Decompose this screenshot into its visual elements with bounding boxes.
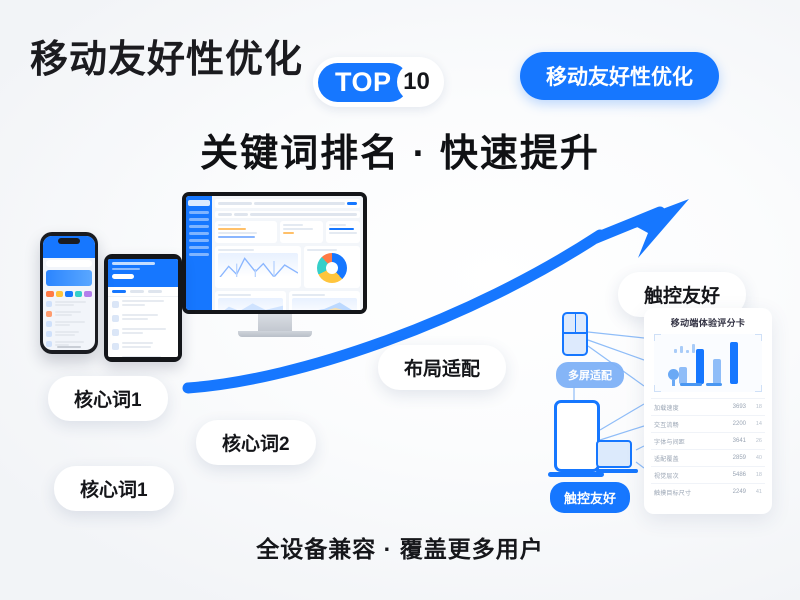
- table-row: 触摸目标尺寸 2249 41: [651, 483, 765, 500]
- top-rank-badge: TOP 10: [313, 57, 444, 107]
- monitor-bezel: [182, 192, 367, 314]
- row-delta: 14: [746, 421, 762, 427]
- filter-chip: [218, 213, 232, 216]
- mobile-score-card: 移动端体验评分卡 加载速度 3693: [644, 308, 772, 514]
- row-name: 适配覆盖: [654, 454, 722, 463]
- phone-notch: [58, 238, 80, 244]
- filter-chip: [250, 213, 357, 216]
- top-label: TOP: [318, 63, 409, 102]
- line-chart: [218, 253, 298, 277]
- desktop-monitor-mockup: [182, 192, 367, 337]
- sidebar-item: [189, 211, 209, 214]
- row-delta: 26: [746, 438, 762, 444]
- phone-icon-grid: [43, 289, 95, 299]
- phone-home-indicator: [57, 346, 81, 348]
- phone-screen: [43, 236, 95, 350]
- row-value: 5486: [722, 472, 746, 478]
- phone-mockup: [40, 232, 98, 354]
- row-delta: 18: [746, 404, 762, 410]
- area-chart: [292, 298, 357, 310]
- row-value: 2200: [722, 421, 746, 427]
- poster-canvas: 移动友好性优化 TOP 10 移动友好性优化 关键词排名 · 快速提升: [0, 0, 800, 600]
- row-value: 2859: [722, 455, 746, 461]
- table-row: 字体与间距 3641 26: [651, 432, 765, 449]
- row-value: 3641: [722, 438, 746, 444]
- list-item: [108, 339, 178, 353]
- dashboard-filterbar: [215, 211, 360, 218]
- dashboard-card: [215, 221, 277, 243]
- list-item: [108, 353, 178, 357]
- list-item: [43, 329, 95, 339]
- table-row: 视觉层次 5486 18: [651, 466, 765, 483]
- tablet-header: [108, 259, 178, 287]
- tab: [130, 290, 144, 293]
- keyword-pill[interactable]: 核心词1: [54, 466, 174, 511]
- table-row: 加载速度 3693 18: [651, 398, 765, 415]
- sidebar-item: [189, 253, 209, 256]
- scorecard-bars: [666, 340, 750, 384]
- table-row: 交互流畅 2200 14: [651, 415, 765, 432]
- scorecard-chart: [654, 334, 762, 392]
- row-delta: 41: [746, 489, 762, 495]
- dashboard-chart-card: [215, 246, 301, 288]
- filter-chip: [234, 213, 248, 216]
- list-item: [108, 325, 178, 339]
- dashboard-area-card: [215, 291, 286, 310]
- sidebar-item: [189, 232, 209, 235]
- tablet-mockup: [104, 254, 182, 362]
- dashboard-sidebar: [186, 196, 212, 310]
- top-number: 10: [397, 62, 437, 102]
- row-name: 触摸目标尺寸: [654, 488, 722, 497]
- phone-banner: [46, 270, 92, 286]
- header-tag: 移动友好性优化: [520, 52, 719, 100]
- monitor-stand-neck: [258, 314, 292, 331]
- dashboard-logo: [188, 200, 210, 206]
- row-name: 字体与间距: [654, 437, 722, 446]
- dashboard-card: [280, 221, 323, 243]
- table-row: 适配覆盖 2859 40: [651, 449, 765, 466]
- dashboard-row: [215, 246, 360, 288]
- laptop-icon: [596, 440, 638, 476]
- dashboard-donut-card: [304, 246, 360, 288]
- diagram-pill-touch[interactable]: 触控友好: [550, 482, 630, 513]
- tab-active: [112, 290, 126, 293]
- list-item: [43, 299, 95, 309]
- dashboard-card: [326, 221, 360, 243]
- row-name: 视觉层次: [654, 471, 722, 480]
- list-item: [43, 309, 95, 319]
- dashboard-topbar: [215, 199, 360, 208]
- page-subtitle: 关键词排名 · 快速提升: [0, 122, 800, 177]
- list-item: [108, 311, 178, 325]
- page-title: 移动友好性优化: [30, 28, 303, 83]
- tab: [148, 290, 162, 293]
- large-phone-icon: [554, 400, 600, 472]
- monitor-stand-foot: [238, 331, 312, 337]
- row-value: 2249: [722, 489, 746, 495]
- callout-layout[interactable]: 布局适配: [378, 345, 506, 390]
- device-network-diagram: 多屏适配 触控友好 移动端体验评分卡: [548, 300, 776, 520]
- device-base-bar: [548, 472, 604, 477]
- location-pin-icon: [668, 369, 679, 380]
- sidebar-item: [189, 246, 209, 249]
- row-name: 加载速度: [654, 403, 722, 412]
- monitor-screen: [186, 196, 363, 310]
- donut-chart: [317, 253, 347, 283]
- sidebar-item: [189, 239, 209, 242]
- list-item: [43, 319, 95, 329]
- row-delta: 40: [746, 455, 762, 461]
- scorecard-table: 加载速度 3693 18 交互流畅 2200 14 字体与间距 3641 26 …: [651, 398, 765, 500]
- row-name: 交互流畅: [654, 420, 722, 429]
- dashboard-main: [212, 196, 363, 310]
- small-phone-icon: [562, 312, 588, 356]
- topbar-segment: [347, 202, 357, 205]
- area-chart: [218, 298, 283, 310]
- topbar-segment: [218, 202, 252, 205]
- device-mockups: [22, 192, 342, 372]
- tablet-tabs: [108, 287, 178, 297]
- topbar-segment: [254, 202, 345, 205]
- row-delta: 18: [746, 472, 762, 478]
- dashboard-area-card: [289, 291, 360, 310]
- sidebar-item: [189, 218, 209, 221]
- keyword-pill[interactable]: 核心词1: [48, 376, 168, 421]
- dashboard-row: [215, 221, 360, 243]
- list-item: [108, 297, 178, 311]
- phone-search-bar: [46, 260, 92, 267]
- tablet-screen: [108, 259, 178, 357]
- footer-tagline: 全设备兼容 · 覆盖更多用户: [0, 530, 800, 564]
- sidebar-item: [189, 225, 209, 228]
- row-value: 3693: [722, 404, 746, 410]
- diagram-pill-multiscreen[interactable]: 多屏适配: [556, 362, 624, 388]
- scorecard-title: 移动端体验评分卡: [651, 316, 765, 329]
- dashboard-row: [215, 291, 360, 310]
- keyword-pill[interactable]: 核心词2: [196, 420, 316, 465]
